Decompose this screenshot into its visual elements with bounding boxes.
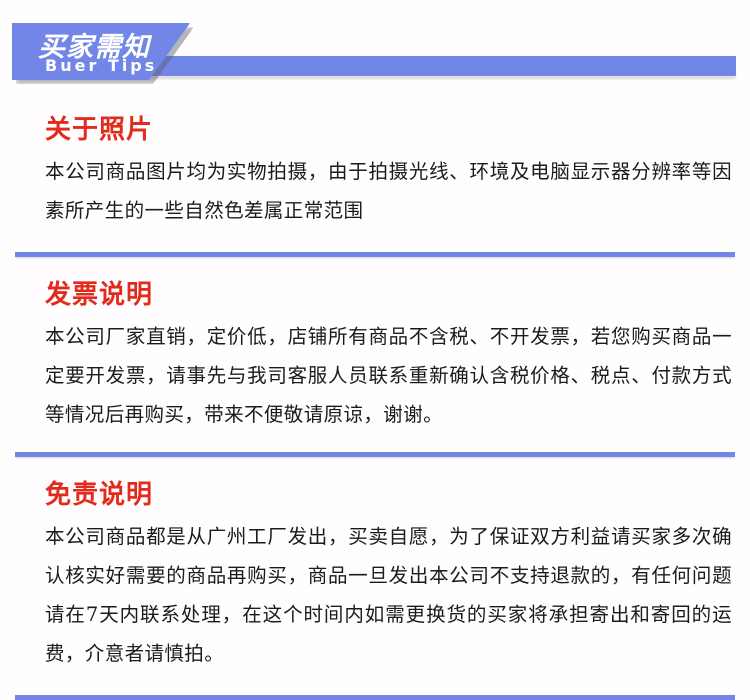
page-banner: 买家需知 Buer Tips bbox=[0, 0, 750, 92]
section-disclaimer: 免责说明 本公司商品都是从广州工厂发出，买卖自愿，为了保证双方利益请买家多次确认… bbox=[0, 474, 750, 673]
section-divider bbox=[15, 252, 735, 257]
spacer bbox=[0, 434, 750, 452]
banner-title-en: Buer Tips bbox=[45, 56, 157, 75]
section-body: 本公司商品图片均为实物拍摄，由于拍摄光线、环境及电脑显示器分辨率等因素所产生的一… bbox=[45, 152, 732, 230]
footer-divider bbox=[15, 695, 735, 700]
section-body: 本公司商品都是从广州工厂发出，买卖自愿，为了保证双方利益请买家多次确认核实好需要… bbox=[45, 517, 732, 673]
section-heading: 关于照片 bbox=[45, 109, 732, 146]
section-heading: 免责说明 bbox=[45, 474, 732, 511]
spacer bbox=[0, 673, 750, 695]
section-heading: 发票说明 bbox=[45, 274, 732, 311]
section-body: 本公司厂家直销，定价低，店铺所有商品不含税、不开发票，若您购买商品一定要开发票，… bbox=[45, 317, 732, 434]
section-invoice: 发票说明 本公司厂家直销，定价低，店铺所有商品不含税、不开发票，若您购买商品一定… bbox=[0, 274, 750, 434]
banner-accent-bar bbox=[150, 56, 736, 76]
section-about-photo: 关于照片 本公司商品图片均为实物拍摄，由于拍摄光线、环境及电脑显示器分辨率等因素… bbox=[0, 109, 750, 230]
section-divider bbox=[15, 452, 735, 457]
spacer bbox=[0, 230, 750, 252]
tips-content: 关于照片 本公司商品图片均为实物拍摄，由于拍摄光线、环境及电脑显示器分辨率等因素… bbox=[0, 109, 750, 700]
